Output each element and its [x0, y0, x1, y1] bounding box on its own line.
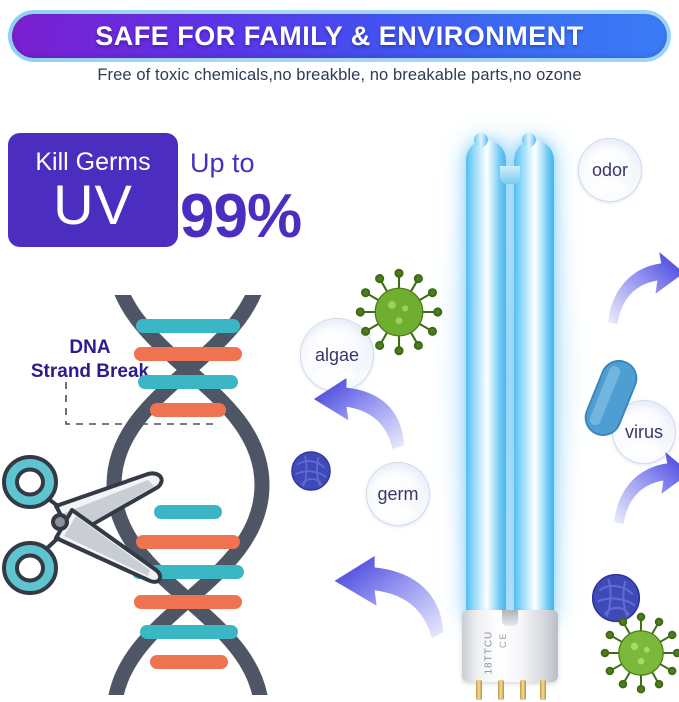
- lamp-tube-nub-right: [522, 133, 536, 147]
- lamp-pins: [462, 680, 558, 702]
- arrow-up-left-icon: [330, 556, 446, 640]
- lamp-tube-nub-left: [474, 133, 488, 147]
- claim-prefix: Up to: [190, 148, 255, 179]
- lamp-tube-bridge: [500, 166, 520, 184]
- subtitle-text: Free of toxic chemicals,no breakble, no …: [0, 66, 679, 85]
- lamp-pin: [540, 680, 546, 700]
- badge-line-1: Kill Germs: [35, 150, 150, 175]
- bubble-text: virus: [625, 422, 663, 443]
- header-banner-border: SAFE FOR FAMILY & ENVIRONMENT: [8, 10, 671, 62]
- bubble-label-germ: germ: [366, 462, 430, 526]
- lamp-base: 18TTCU CE: [462, 610, 558, 682]
- lamp-glow: [436, 130, 584, 630]
- bubble-text: odor: [592, 160, 628, 181]
- lamp-base-certification-marks: CE: [498, 622, 508, 648]
- scissors-icon: [0, 440, 188, 620]
- lamp-pin: [520, 680, 526, 700]
- header-banner: SAFE FOR FAMILY & ENVIRONMENT: [12, 14, 667, 58]
- virus-spiky-green-icon: [355, 268, 443, 356]
- badge-line-2: UV: [53, 177, 133, 233]
- claim-value: 99%: [180, 181, 301, 252]
- germ-cluster-blue-icon: [288, 448, 334, 494]
- bubble-text: algae: [315, 345, 359, 366]
- arrow-up-right-icon: [612, 452, 679, 526]
- lamp-base-label: 18TTCU: [484, 609, 495, 675]
- virus-spiky-green-icon: [600, 612, 679, 694]
- lamp-pin: [498, 680, 504, 700]
- kill-germs-badge: Kill Germs UV: [8, 133, 178, 247]
- arrow-up-right-icon: [606, 252, 679, 326]
- header-title: SAFE FOR FAMILY & ENVIRONMENT: [95, 21, 584, 52]
- lamp-tube-right: [514, 140, 554, 618]
- bubble-label-odor: odor: [578, 138, 642, 202]
- arrow-up-left-icon: [310, 378, 406, 450]
- uv-lamp-graphic: 18TTCU CE: [462, 140, 558, 690]
- lamp-pin: [476, 680, 482, 700]
- lamp-tube-left: [466, 140, 506, 618]
- poster-canvas: SAFE FOR FAMILY & ENVIRONMENT Free of to…: [0, 0, 679, 698]
- bubble-text: germ: [377, 484, 418, 505]
